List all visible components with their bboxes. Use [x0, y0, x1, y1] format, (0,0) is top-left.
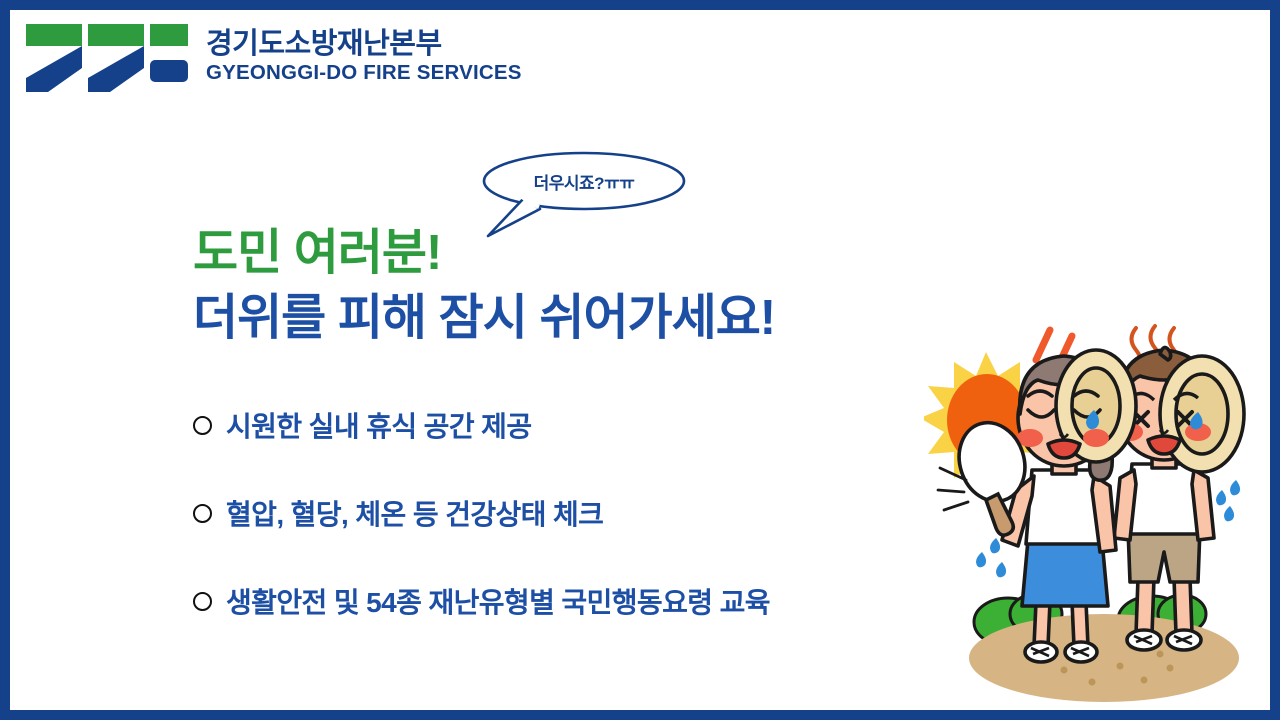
slide-canvas: 경기도소방재난본부 GYEONGGI-DO FIRE SERVICES 더우시죠… — [0, 0, 1280, 720]
logo-title-english: GYEONGGI-DO FIRE SERVICES — [206, 63, 522, 84]
hollow-circle-bullet-icon — [193, 504, 212, 523]
sandy-ground — [969, 614, 1239, 702]
hollow-circle-bullet-icon — [193, 416, 212, 435]
page-title-line2: 더위를 피해 잠시 쉬어가세요! — [193, 278, 775, 349]
gyeonggi-fire-services-logo-mark-icon — [22, 18, 192, 96]
speech-bubble-text: 더우시죠?ㅠㅠ — [478, 150, 690, 212]
logo-title-korean: 경기도소방재난본부 — [206, 30, 522, 59]
list-item: 생활안전 및 54종 재난유형별 국민행동요령 교육 — [193, 581, 983, 621]
list-item-label: 생활안전 및 54종 재난유형별 국민행동요령 교육 — [226, 581, 770, 621]
list-item-label: 혈압, 혈당, 체온 등 건강상태 체크 — [226, 493, 603, 533]
speech-bubble: 더우시죠?ㅠㅠ — [478, 150, 708, 240]
heat-illustration — [924, 314, 1270, 710]
list-item: 시원한 실내 휴식 공간 제공 — [193, 405, 983, 445]
header-logo: 경기도소방재난본부 GYEONGGI-DO FIRE SERVICES — [22, 18, 522, 96]
hollow-circle-bullet-icon — [193, 592, 212, 611]
page-title-line1: 도민 여러분! — [193, 213, 441, 284]
slide-inner: 경기도소방재난본부 GYEONGGI-DO FIRE SERVICES 더우시죠… — [10, 10, 1270, 710]
list-item-label: 시원한 실내 휴식 공간 제공 — [226, 405, 531, 445]
logo-text-block: 경기도소방재난본부 GYEONGGI-DO FIRE SERVICES — [206, 30, 522, 84]
list-item: 혈압, 혈당, 체온 등 건강상태 체크 — [193, 493, 983, 533]
sweat-drops — [1216, 480, 1240, 521]
benefits-list: 시원한 실내 휴식 공간 제공 혈압, 혈당, 체온 등 건강상태 체크 생활안… — [193, 405, 983, 669]
sweat-drops — [976, 538, 1006, 577]
